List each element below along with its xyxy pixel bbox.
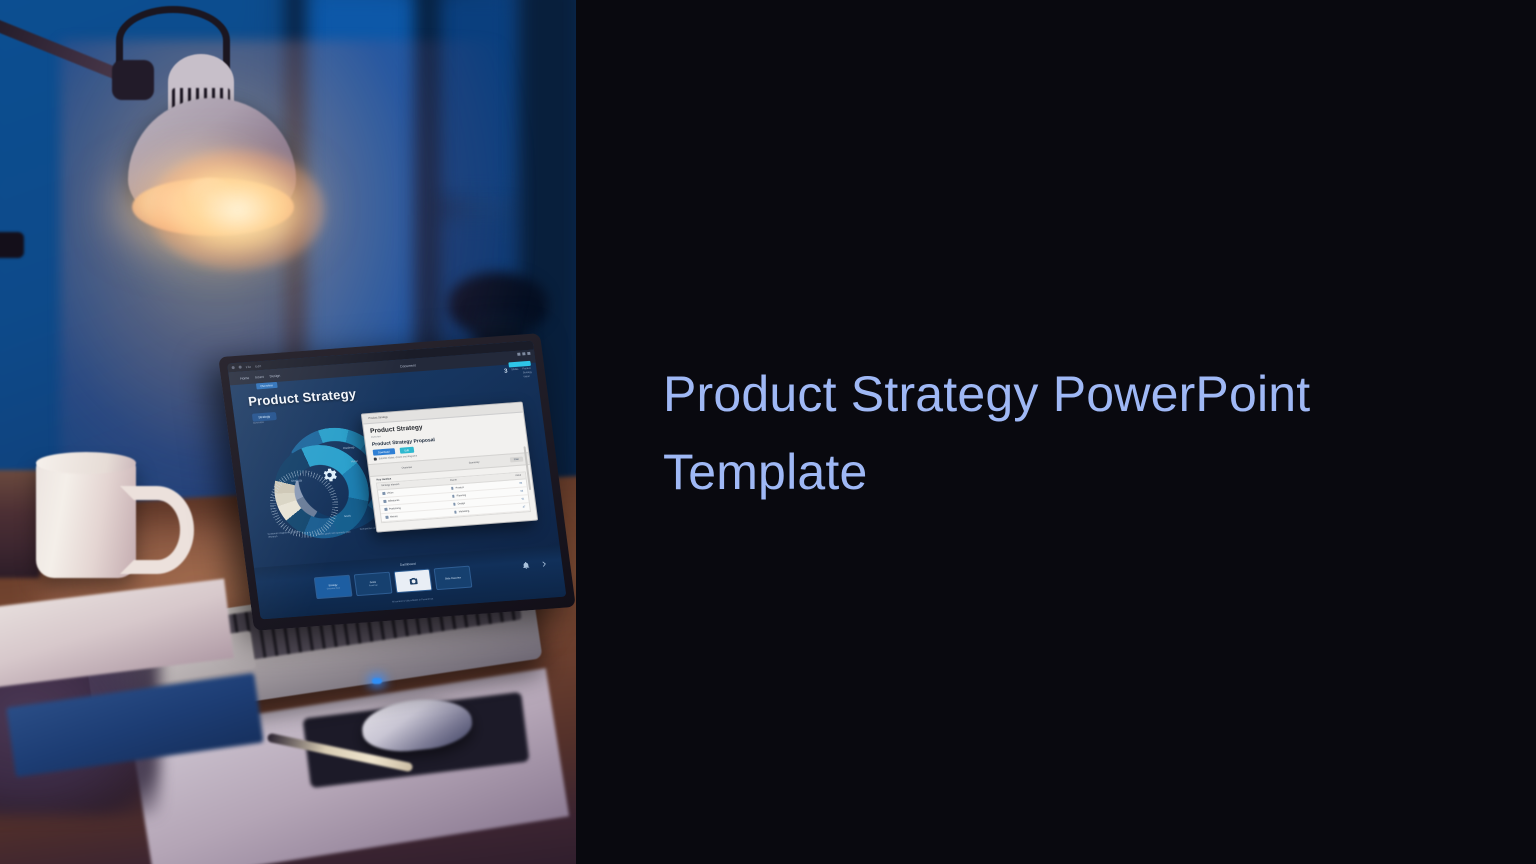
close-icon[interactable] xyxy=(527,352,530,355)
bottom-card-label: Slide Overview xyxy=(445,576,461,580)
bullet-icon xyxy=(384,508,387,511)
dashboard-badge: Strategy xyxy=(252,412,277,422)
laptop-lid: File Edit Home Insert Design Document xyxy=(218,333,576,631)
bottom-card-sub: Overview deck xyxy=(327,587,340,590)
menubar-item[interactable]: Edit xyxy=(255,364,261,368)
lamp-joint xyxy=(112,60,154,100)
overlay-toolbar-cell[interactable]: Summary xyxy=(442,459,506,467)
slide-count-widget: 3 Slides Product Strategy Vision xyxy=(504,367,533,380)
bottom-card-slide-overview[interactable]: Slide Overview xyxy=(434,566,473,591)
coffee-mug-handle xyxy=(120,486,194,574)
slide-count-number: 3 xyxy=(504,369,508,375)
window-dot-icon xyxy=(238,366,241,369)
bottom-card-label: Goals xyxy=(370,581,377,584)
window-pane-2 xyxy=(436,0,518,200)
table-cell-owner: Marketing xyxy=(454,506,512,513)
bullet-icon xyxy=(453,503,456,506)
lamp-clamp xyxy=(0,232,24,258)
slide-canvas: File Edit Home Insert Design Document xyxy=(0,0,1536,864)
maximize-icon[interactable] xyxy=(522,352,525,355)
bullet-icon xyxy=(385,516,388,519)
table-cell-value: 82 xyxy=(508,482,522,486)
edit-button[interactable]: Edit xyxy=(399,447,414,454)
table-cell-value: 64 xyxy=(509,490,523,494)
books-stack xyxy=(0,470,40,578)
table-cell-value: 51 xyxy=(510,497,524,501)
table-cell-value: 47 xyxy=(511,505,525,509)
bottom-card-sub: Roadmap xyxy=(369,585,378,588)
bottom-bar-footer: All content is fully editable in PowerPo… xyxy=(392,598,433,603)
bullet-icon xyxy=(451,487,454,490)
hero-photo: File Edit Home Insert Design Document xyxy=(0,0,576,864)
chart-label: Goals xyxy=(344,515,351,518)
bullet-icon xyxy=(382,492,385,495)
coffee-mug-rim xyxy=(36,452,136,474)
slide-meta-detail: Product Strategy Vision xyxy=(522,367,532,379)
screen-bottom-bar: Dashboard Strategy Overview deck Goals R… xyxy=(254,545,566,620)
dashboard-badge-sub: Overview xyxy=(253,421,264,425)
bell-icon[interactable] xyxy=(521,561,530,570)
title-block: Product Strategy PowerPoint Template xyxy=(663,356,1463,511)
camera-icon xyxy=(408,576,418,586)
overlay-window[interactable]: Product Strategy Product Strategy Overvi… xyxy=(361,401,538,532)
laptop-status-led xyxy=(372,678,382,684)
title-panel: Product Strategy PowerPoint Template xyxy=(576,0,1536,864)
dashboard-title: Product Strategy xyxy=(247,386,357,409)
bottom-card-goals[interactable]: Goals Roadmap xyxy=(354,572,393,597)
chart-center-label: Strategy xyxy=(291,478,303,483)
overlay-filter-button[interactable]: Filter xyxy=(509,456,523,463)
toolbar-item[interactable]: Insert xyxy=(255,374,264,379)
slide-meta-line: Vision xyxy=(523,375,532,379)
toolbar-item[interactable]: Home xyxy=(240,375,250,380)
overlay-titlebar-text: Product Strategy xyxy=(368,416,388,420)
gear-icon xyxy=(319,465,339,484)
table-column-header: Value xyxy=(507,474,521,478)
bottom-bar-icons[interactable] xyxy=(521,560,548,570)
bottom-card-strategy[interactable]: Strategy Overview deck xyxy=(314,575,353,600)
toolbar-item[interactable]: Design xyxy=(269,373,280,378)
slide-count-label: Slides xyxy=(511,368,518,372)
window-dot-icon xyxy=(231,366,234,369)
chart-label: Vision xyxy=(351,460,358,464)
chevron-right-icon[interactable] xyxy=(539,560,548,569)
bullet-icon xyxy=(383,500,386,503)
bullet-icon xyxy=(454,511,457,514)
page-title: Product Strategy PowerPoint Template xyxy=(663,356,1463,511)
tab-overview[interactable]: Overview xyxy=(256,382,277,389)
bottom-card-media[interactable] xyxy=(394,569,433,594)
menubar-app-name[interactable]: File xyxy=(245,364,251,368)
toolbar-document-name: Document xyxy=(400,363,416,368)
check-icon xyxy=(374,458,377,461)
bullet-icon xyxy=(452,495,455,498)
laptop-screen[interactable]: File Edit Home Insert Design Document xyxy=(227,341,566,620)
minimize-icon[interactable] xyxy=(517,353,520,356)
download-button[interactable]: Download xyxy=(373,448,395,456)
bottom-bar-cards[interactable]: Strategy Overview deck Goals Roadmap xyxy=(314,566,473,600)
screen-tabs[interactable]: Overview xyxy=(256,382,277,389)
lamp-light-core xyxy=(150,150,325,270)
overlay-toolbar-cell[interactable]: Overview xyxy=(375,464,439,472)
bottom-bar-title: Dashboard xyxy=(400,562,416,567)
toolbar-spacer xyxy=(286,367,394,375)
